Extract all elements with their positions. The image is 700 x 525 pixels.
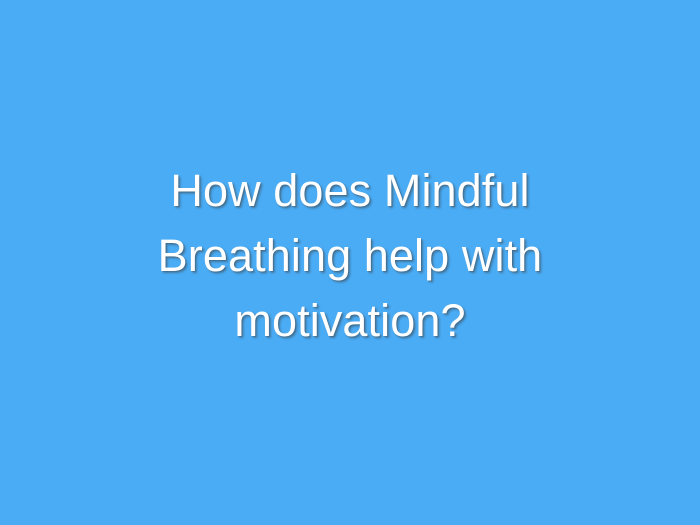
question-card: How does Mindful Breathing help with mot…: [0, 0, 700, 525]
headline-block: How does Mindful Breathing help with mot…: [70, 158, 630, 353]
headline-line-2: Breathing help with: [70, 223, 630, 288]
headline-line-3: motivation?: [70, 288, 630, 353]
headline-line-1: How does Mindful: [70, 158, 630, 223]
